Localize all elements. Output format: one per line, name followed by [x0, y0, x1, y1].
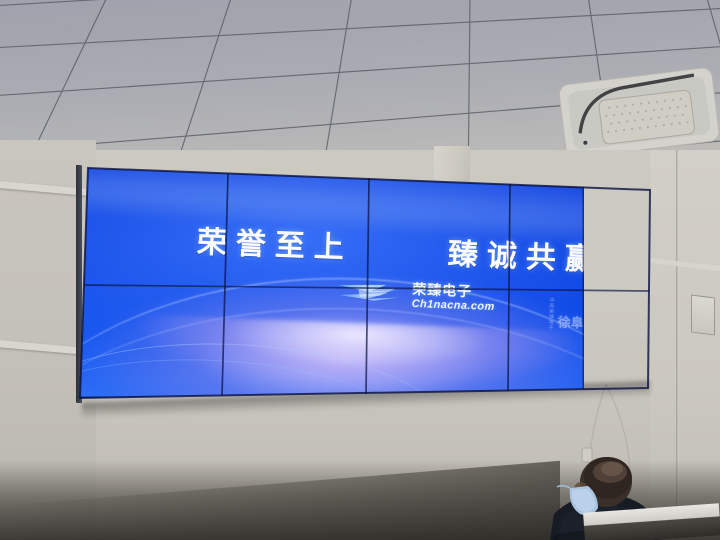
videowall-inner-frame — [78, 158, 584, 398]
ceiling-ac-unit — [556, 66, 720, 158]
videowall-left-edge — [76, 165, 82, 403]
wall-mounted-panel — [691, 295, 715, 336]
room-photo-scene: 荣誉至上 臻诚共赢 荣臻电子 Ch1nacna.com — [0, 0, 720, 540]
